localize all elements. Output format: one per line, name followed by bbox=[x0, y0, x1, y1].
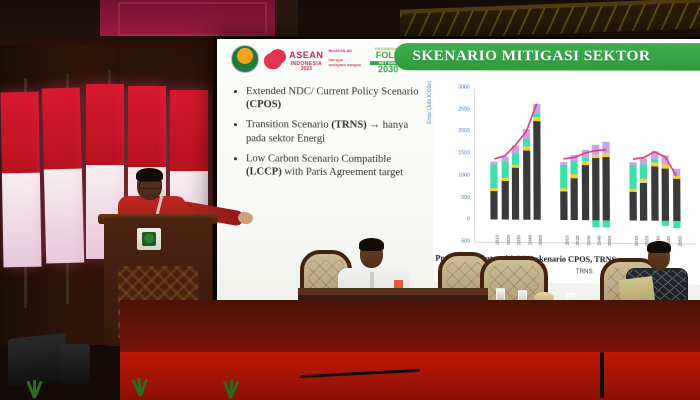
panelist-center-hair bbox=[359, 238, 384, 251]
chart-x-tick: 2010 bbox=[495, 235, 500, 245]
chart-x-tick: 2050 bbox=[677, 236, 682, 246]
chart-x-tick: 2030 bbox=[586, 235, 591, 245]
chart-y-tick: 1000 bbox=[458, 172, 469, 178]
chart-total-emission-line bbox=[475, 88, 697, 244]
magenta-wall-panel bbox=[100, 0, 275, 36]
indonesian-flag bbox=[42, 88, 85, 264]
chart-x-tick: 2020 bbox=[575, 235, 580, 245]
bullet-text-tail: with Paris Agreement target bbox=[282, 167, 403, 179]
decorative-plant bbox=[218, 372, 244, 398]
chart-x-tick: 2030 bbox=[516, 235, 521, 245]
chart-y-tick: 3000 bbox=[458, 84, 469, 90]
chart-x-tick: 2040 bbox=[527, 235, 532, 245]
slide-title-bar: SKENARIO MITIGASI SEKTOR bbox=[394, 43, 700, 71]
berakhlak-line1: BerAKHLAK bbox=[328, 48, 364, 53]
page-title: SKENARIO MITIGASI SEKTOR bbox=[412, 48, 650, 65]
stage-floor-lighting bbox=[120, 352, 700, 400]
bullet-text: Transition Scenario bbox=[246, 120, 331, 131]
panelist-right-hair bbox=[647, 241, 671, 253]
slide-bullet-list: Extended NDC/ Current Policy Scenario (C… bbox=[233, 85, 421, 187]
asean-logo-line3: 2023 bbox=[289, 67, 323, 72]
ministry-emblem-logo bbox=[231, 45, 259, 73]
chart-y-tick: 2500 bbox=[458, 106, 469, 112]
speaker-glasses bbox=[139, 181, 162, 189]
slide-logo-bar: ASEAN INDONESIA 2023 BerAKHLAK bangga me… bbox=[231, 44, 406, 74]
podium-emblem bbox=[137, 228, 161, 250]
bullet-text: Low Carbon Scenario Compatible bbox=[246, 153, 391, 165]
decorative-plant bbox=[22, 372, 48, 398]
berakhlak-bangga-melayani-logo: BerAKHLAK bangga melayani bangsa bbox=[328, 48, 364, 70]
chart-y-axis-title: Emisi (Juta tCO2e) bbox=[427, 81, 433, 124]
mic-stand-pole bbox=[600, 352, 604, 398]
chart-x-tick: 2040 bbox=[596, 236, 601, 246]
conference-stage-photo: ASEAN INDONESIA 2023 BerAKHLAK bangga me… bbox=[0, 0, 700, 400]
asean-indonesia-2023-logo: ASEAN INDONESIA 2023 bbox=[264, 46, 323, 72]
speaker-hair bbox=[136, 168, 163, 182]
asean-mark-icon bbox=[264, 49, 286, 69]
slide-bullet-item: Low Carbon Scenario Compatible (LCCP) wi… bbox=[246, 152, 421, 180]
chart-y-tick: 1500 bbox=[458, 150, 469, 156]
chart-y-tick: -500 bbox=[460, 238, 470, 244]
chart-x-tick: 2050 bbox=[538, 235, 543, 245]
decorative-plant bbox=[128, 370, 154, 396]
chart-y-tick: 0 bbox=[467, 217, 470, 223]
chart-x-tick: 2010 bbox=[564, 235, 569, 245]
bullet-acronym: (LCCP) bbox=[246, 166, 282, 177]
asean-logo-line1: ASEAN bbox=[289, 50, 323, 60]
bullet-acronym: (CPOS) bbox=[246, 99, 281, 110]
slide-bullet-item: Transition Scenario (TRNS) → hanya pada … bbox=[246, 119, 421, 146]
chart-y-tick: 2000 bbox=[458, 128, 469, 134]
bullet-text: Extended NDC/ Current Policy Scenario bbox=[246, 86, 419, 97]
chart-plot-area bbox=[474, 88, 697, 245]
bullet-acronym: (TRNS) bbox=[331, 120, 366, 131]
berakhlak-line3: melayani bangsa bbox=[328, 62, 364, 67]
chart-x-tick: 2010 bbox=[634, 236, 639, 246]
loudspeaker bbox=[60, 344, 90, 384]
slide-bullet-item: Extended NDC/ Current Policy Scenario (C… bbox=[246, 85, 421, 112]
chart-x-tick: 2020 bbox=[506, 235, 511, 245]
indonesian-flag bbox=[0, 92, 41, 268]
chart-x-tick: 2050 bbox=[607, 236, 612, 246]
chart-y-tick: 500 bbox=[461, 194, 470, 200]
